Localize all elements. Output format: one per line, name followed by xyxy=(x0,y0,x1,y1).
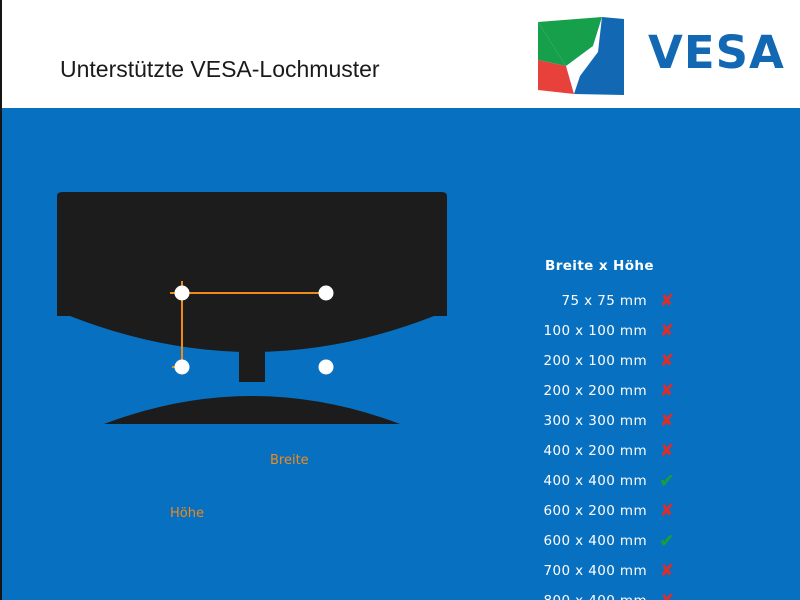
unsupported-cross-icon: ✘ xyxy=(647,413,687,430)
spec-row: 300 x 300 mm✘ xyxy=(492,406,722,436)
page-title: Unterstützte VESA-Lochmuster xyxy=(60,56,380,83)
spec-row: 400 x 400 mm✔ xyxy=(492,466,722,496)
spec-row: 400 x 200 mm✘ xyxy=(492,436,722,466)
vesa-checkmark-logo-icon xyxy=(536,16,626,98)
header-bar: Unterstützte VESA-Lochmuster VESA xyxy=(0,0,800,108)
dimension-label-height: Höhe xyxy=(170,506,204,521)
unsupported-cross-icon: ✘ xyxy=(647,443,687,460)
spec-row: 75 x 75 mm✘ xyxy=(492,286,722,316)
spec-size-label: 200 x 200 mm xyxy=(492,383,647,399)
vesa-logo: VESA xyxy=(536,16,786,96)
spec-size-label: 600 x 400 mm xyxy=(492,533,647,549)
spec-row: 600 x 400 mm✔ xyxy=(492,526,722,556)
spec-row: 700 x 400 mm✘ xyxy=(492,556,722,586)
unsupported-cross-icon: ✘ xyxy=(647,563,687,580)
spec-size-label: 100 x 100 mm xyxy=(492,323,647,339)
supported-check-icon: ✔ xyxy=(647,472,687,491)
spec-row: 200 x 100 mm✘ xyxy=(492,346,722,376)
spec-size-label: 800 x 400 mm xyxy=(492,593,647,600)
unsupported-cross-icon: ✘ xyxy=(647,383,687,400)
spec-size-label: 400 x 200 mm xyxy=(492,443,647,459)
spec-size-label: 600 x 200 mm xyxy=(492,503,647,519)
spec-row: 200 x 200 mm✘ xyxy=(492,376,722,406)
spec-size-label: 700 x 400 mm xyxy=(492,563,647,579)
spec-size-label: 300 x 300 mm xyxy=(492,413,647,429)
hole-top-right xyxy=(319,286,334,301)
spec-size-label: 200 x 100 mm xyxy=(492,353,647,369)
spec-row: 100 x 100 mm✘ xyxy=(492,316,722,346)
hole-bottom-right xyxy=(319,360,334,375)
unsupported-cross-icon: ✘ xyxy=(647,503,687,520)
spec-list-heading: Breite x Höhe xyxy=(522,258,677,274)
unsupported-cross-icon: ✘ xyxy=(647,293,687,310)
unsupported-cross-icon: ✘ xyxy=(647,323,687,340)
hole-bottom-left xyxy=(175,360,190,375)
spec-row: 800 x 400 mm✘ xyxy=(492,586,722,600)
tv-back-diagram: Breite Höhe Rückseite TV-Gerät xyxy=(42,192,462,592)
dimension-label-width: Breite xyxy=(270,453,309,468)
spec-size-label: 400 x 400 mm xyxy=(492,473,647,489)
vesa-mount-pattern-slide: Unterstützte VESA-Lochmuster VESA xyxy=(0,0,800,600)
vesa-wordmark: VESA xyxy=(648,30,785,75)
supported-check-icon: ✔ xyxy=(647,532,687,551)
unsupported-cross-icon: ✘ xyxy=(647,353,687,370)
spec-row: 600 x 200 mm✘ xyxy=(492,496,722,526)
tv-illustration-icon xyxy=(42,192,462,592)
spec-size-label: 75 x 75 mm xyxy=(492,293,647,309)
unsupported-cross-icon: ✘ xyxy=(647,593,687,600)
content-panel: Breite Höhe Rückseite TV-Gerät Breite x … xyxy=(0,108,800,600)
hole-top-left xyxy=(175,286,190,301)
spec-rows-container: 75 x 75 mm✘100 x 100 mm✘200 x 100 mm✘200… xyxy=(492,286,722,600)
vesa-pattern-list: Breite x Höhe 75 x 75 mm✘100 x 100 mm✘20… xyxy=(492,258,722,600)
